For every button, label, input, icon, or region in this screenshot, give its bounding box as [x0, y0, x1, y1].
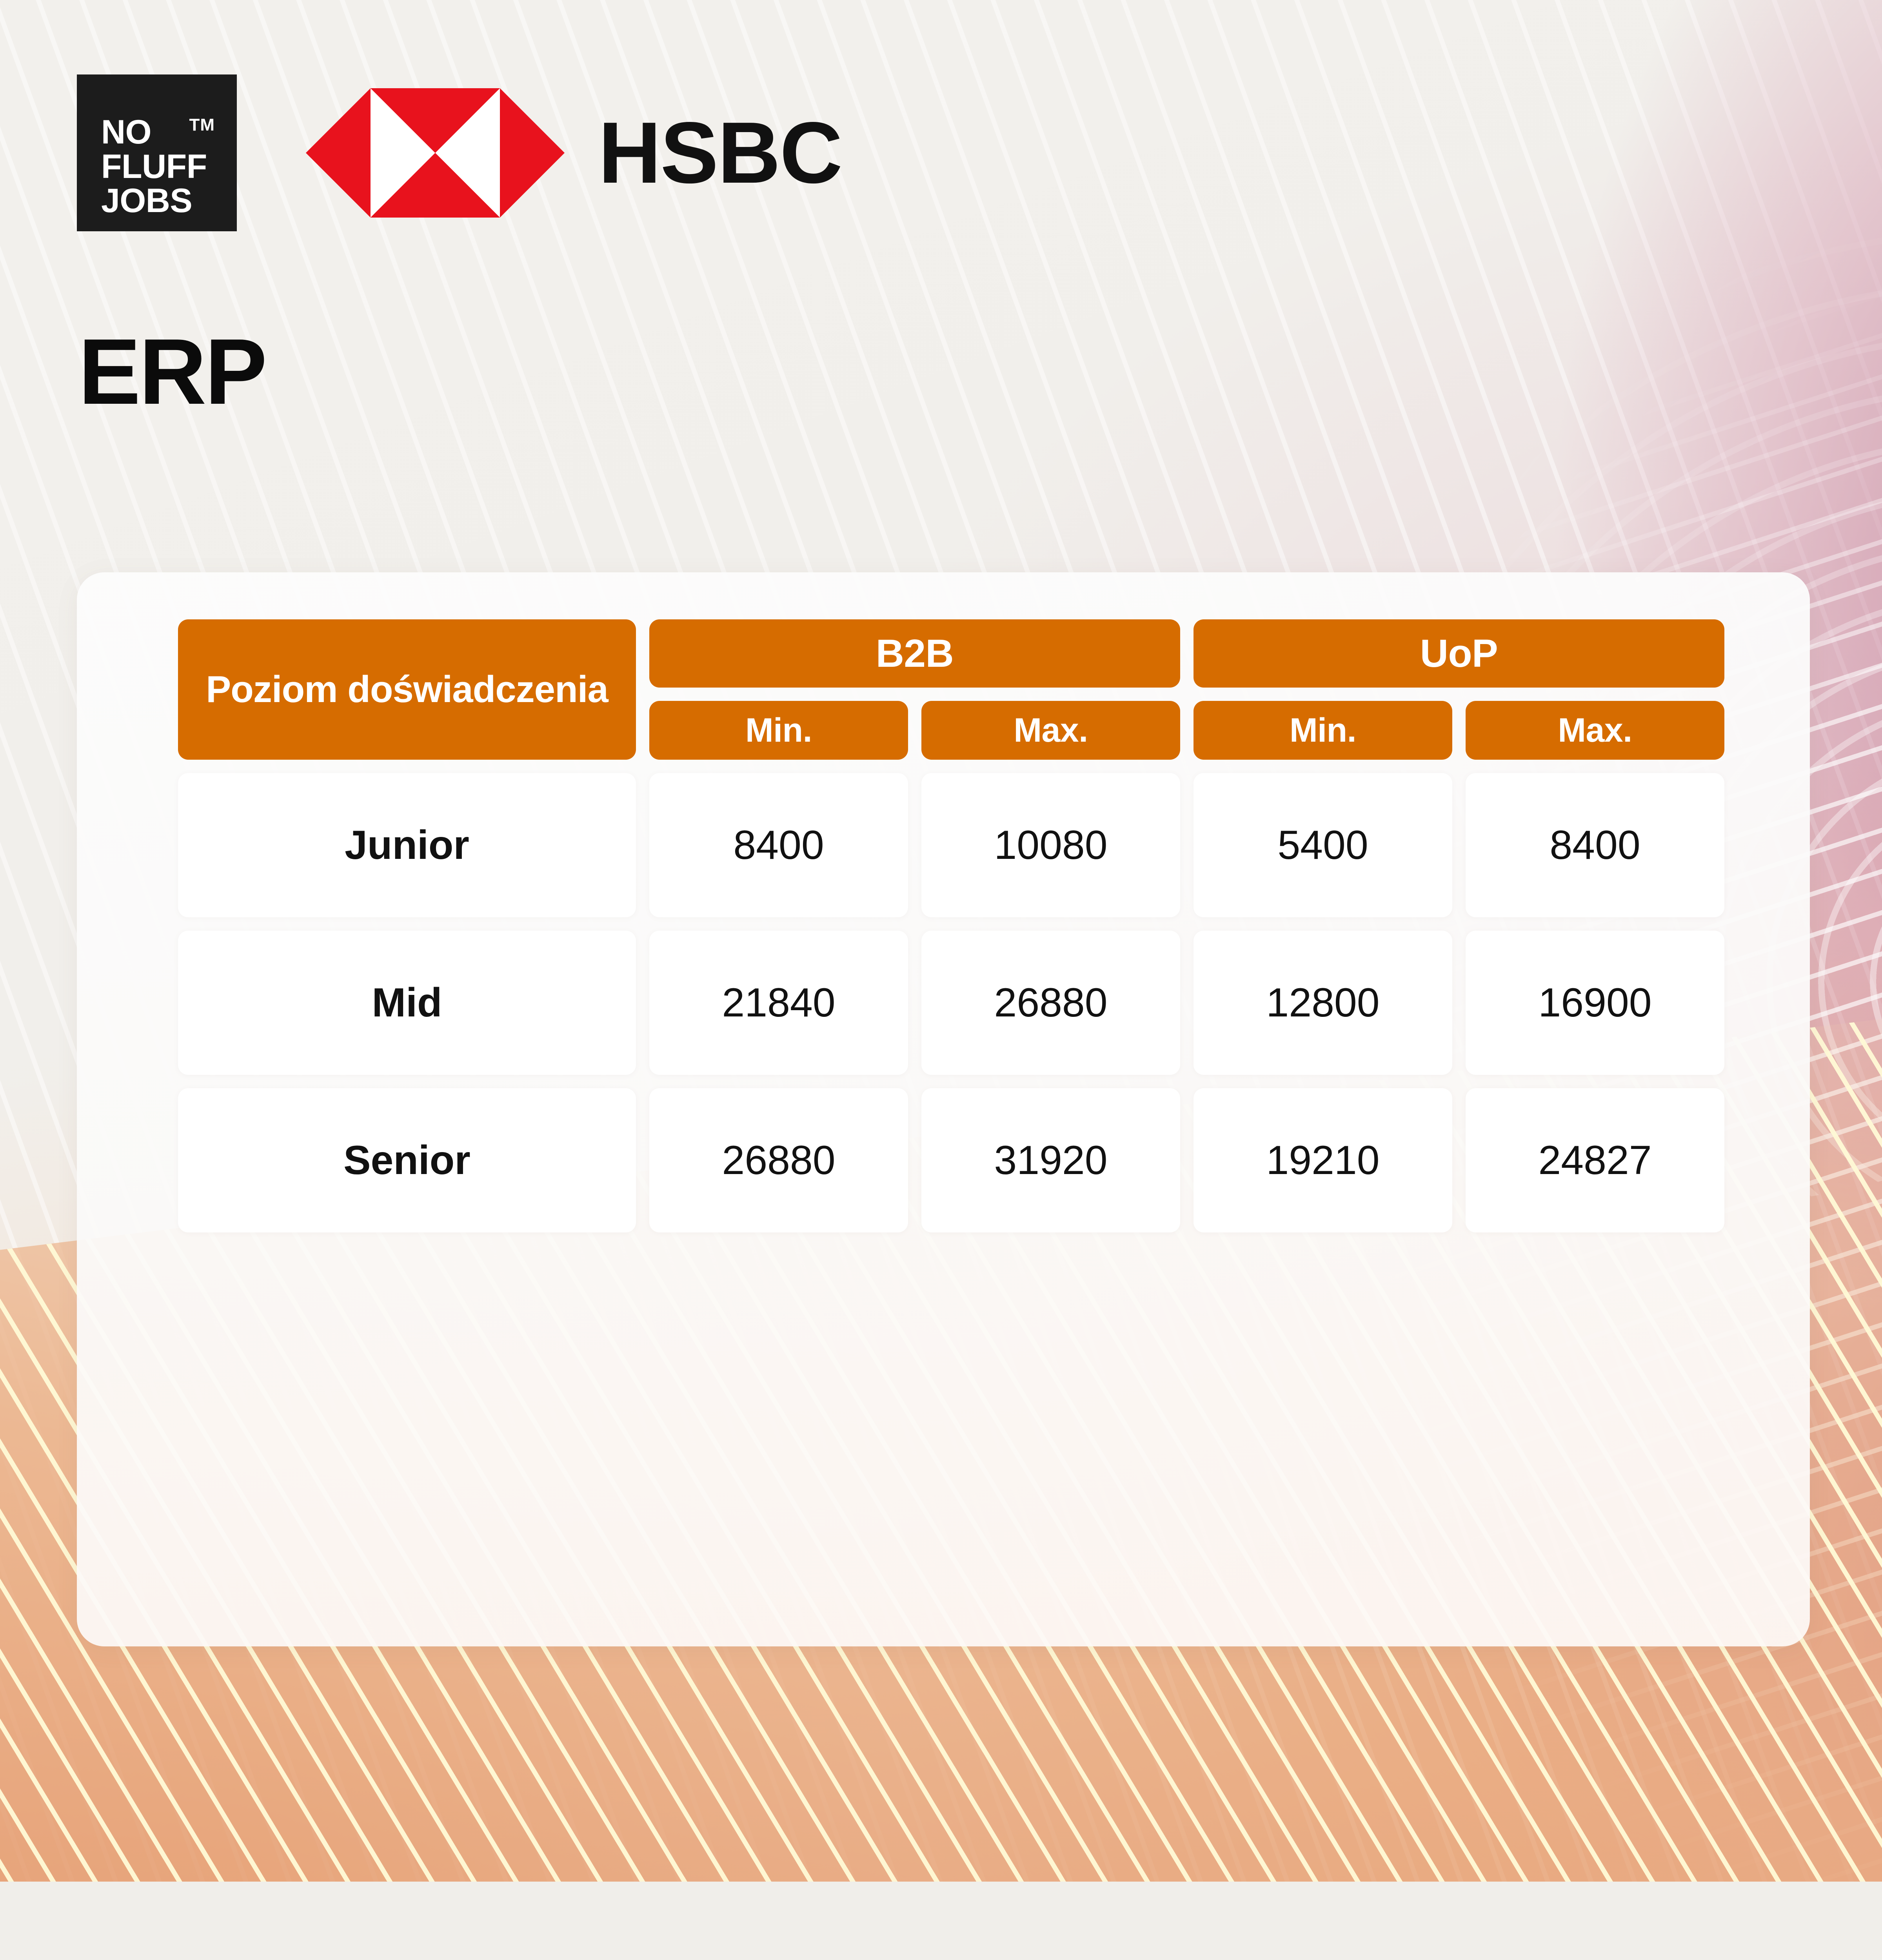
senior-b2b-min: 26880	[649, 1088, 908, 1232]
junior-uop-min: 5400	[1194, 773, 1452, 917]
header-uop-max: Max.	[1466, 701, 1724, 760]
mid-uop-min: 12800	[1194, 931, 1452, 1075]
mid-b2b-max: 26880	[921, 931, 1180, 1075]
junior-b2b-max: 10080	[921, 773, 1180, 917]
header-uop-subrow: Min. Max.	[1194, 701, 1724, 760]
table-row: Junior 8400 10080 5400 8400	[178, 773, 1703, 917]
header-b2b-label: B2B	[649, 619, 1180, 688]
row-level-mid: Mid	[178, 931, 636, 1075]
row-level-senior: Senior	[178, 1088, 636, 1232]
senior-uop-min: 19210	[1194, 1088, 1452, 1232]
salary-table-card: Poziom doświadczenia B2B Min. Max. UoP M…	[77, 572, 1810, 1646]
junior-uop-max: 8400	[1466, 773, 1724, 917]
table-row: Mid 21840 26880 12800 16900	[178, 931, 1703, 1075]
header-group-b2b: B2B Min. Max.	[649, 619, 1180, 760]
hsbc-wordmark: HSBC	[598, 109, 842, 196]
table-header-row: Poziom doświadczenia B2B Min. Max. UoP M…	[178, 619, 1703, 760]
junior-b2b-min: 8400	[649, 773, 908, 917]
hsbc-hexagon-icon	[306, 88, 565, 218]
hsbc-logo: HSBC	[306, 88, 842, 218]
table-row: Senior 26880 31920 19210 24827	[178, 1088, 1703, 1232]
mid-uop-max: 16900	[1466, 931, 1724, 1075]
nfj-line-1: NO	[101, 115, 207, 150]
nfj-line-2: FLUFF	[101, 150, 207, 184]
senior-b2b-max: 31920	[921, 1088, 1180, 1232]
header-experience-level: Poziom doświadczenia	[178, 619, 636, 760]
mid-b2b-min: 21840	[649, 931, 908, 1075]
header-b2b-min: Min.	[649, 701, 908, 760]
salary-table: Poziom doświadczenia B2B Min. Max. UoP M…	[178, 619, 1703, 1232]
header-uop-label: UoP	[1194, 619, 1724, 688]
page-title: ERP	[78, 325, 265, 419]
no-fluff-jobs-wordmark: NO FLUFF JOBS	[101, 115, 207, 218]
header-b2b-subrow: Min. Max.	[649, 701, 1180, 760]
header-b2b-max: Max.	[921, 701, 1180, 760]
brand-header: TM NO FLUFF JOBS HSBC	[77, 74, 842, 231]
header-group-uop: UoP Min. Max.	[1194, 619, 1724, 760]
no-fluff-jobs-logo: TM NO FLUFF JOBS	[77, 74, 237, 231]
row-level-junior: Junior	[178, 773, 636, 917]
header-uop-min: Min.	[1194, 701, 1452, 760]
senior-uop-max: 24827	[1466, 1088, 1724, 1232]
infographic-page: TM NO FLUFF JOBS HSBC ERP Poziom d	[0, 0, 1882, 1882]
nfj-line-3: JOBS	[101, 184, 207, 218]
